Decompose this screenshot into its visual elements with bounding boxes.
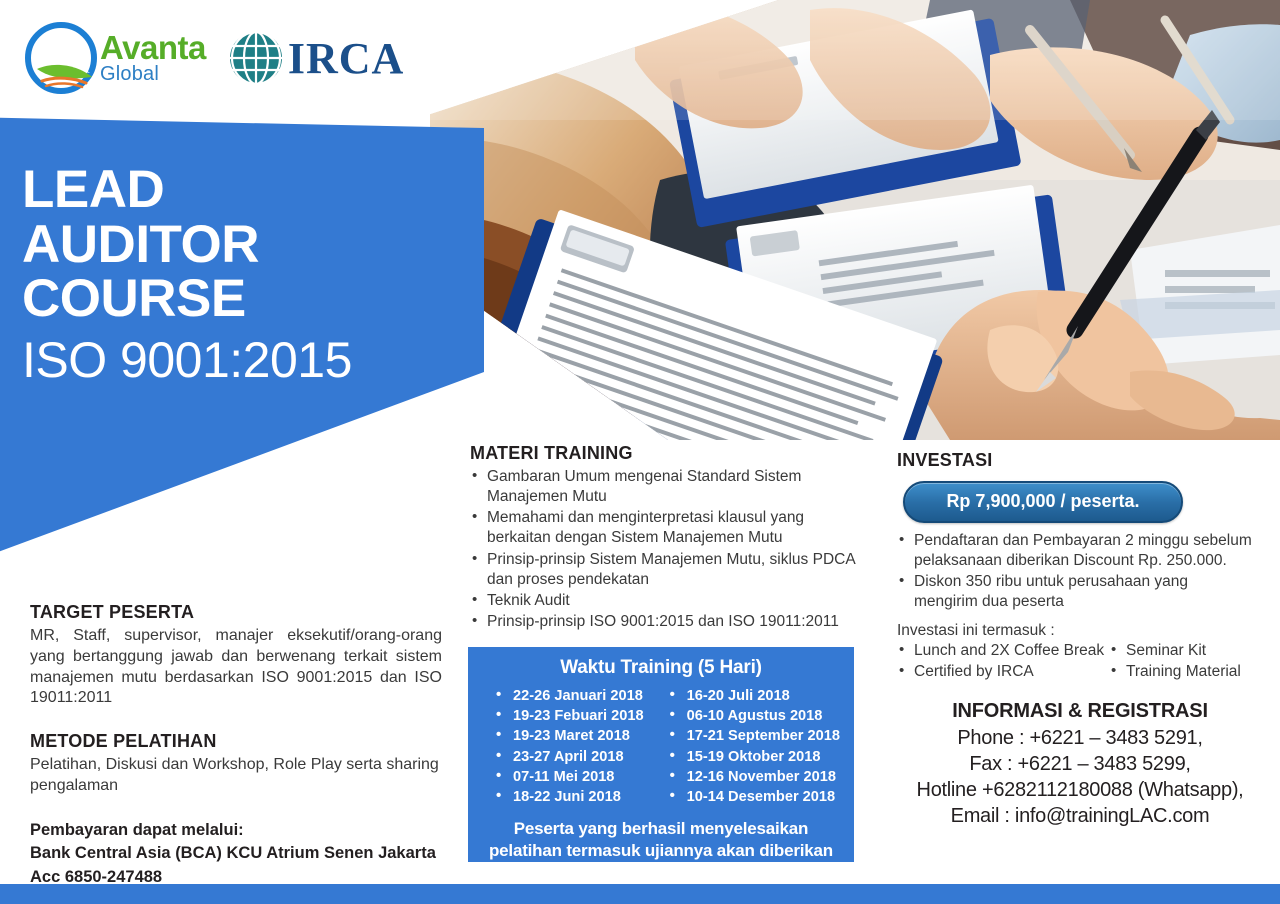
avanta-leaf-globe-icon (24, 21, 98, 95)
payment-info: Pembayaran dapat melalui: Bank Central A… (30, 819, 442, 889)
list-item: 06-10 Agustus 2018 (670, 706, 840, 726)
payment-line-2: Bank Central Asia (BCA) KCU Atrium Senen… (30, 842, 442, 865)
hero-photo-meeting (430, 0, 1280, 440)
materi-training-heading: MATERI TRAINING (470, 443, 860, 464)
list-item: Memahami dan menginterpretasi klausul ya… (470, 508, 860, 548)
schedule-dates-left: 22-26 Januari 2018 19-23 Febuari 2018 19… (496, 686, 658, 807)
list-item: Teknik Audit (470, 591, 860, 611)
list-item: 07-11 Mei 2018 (496, 767, 658, 787)
contact-phone[interactable]: Phone : +6221 – 3483 5291, (880, 725, 1280, 751)
list-item: Certified by IRCA (897, 662, 1109, 682)
includes-columns: Lunch and 2X Coffee Break Certified by I… (897, 641, 1252, 683)
list-item: 19-23 Febuari 2018 (496, 706, 658, 726)
page-title: LEAD AUDITOR COURSE ISO 9001:2015 (22, 163, 352, 391)
flyer-page: Avanta Global IRCA (0, 0, 1280, 904)
list-item: 16-20 Juli 2018 (670, 686, 840, 706)
title-line-3: COURSE (22, 272, 352, 327)
schedule-box: Waktu Training (5 Hari) 22-26 Januari 20… (468, 647, 854, 862)
list-item: Diskon 350 ribu untuk perusahaan yang me… (897, 572, 1252, 612)
list-item: Pendaftaran dan Pembayaran 2 minggu sebe… (897, 531, 1252, 571)
metode-pelatihan-heading: METODE PELATIHAN (30, 731, 442, 752)
contact-hotline[interactable]: Hotline +6282112180088 (Whatsapp), (880, 777, 1280, 803)
logo-row: Avanta Global IRCA (24, 18, 404, 98)
includes-lead: Investasi ini termasuk : (897, 622, 1252, 640)
avanta-wordmark: Avanta Global (100, 32, 206, 83)
schedule-title: Waktu Training (5 Hari) (482, 657, 840, 679)
payment-line-1: Pembayaran dapat melalui: (30, 819, 442, 842)
list-item: 12-16 November 2018 (670, 767, 840, 787)
certificate-note: Peserta yang berhasil menyelesaikan pela… (482, 818, 840, 884)
contact-email[interactable]: Email : info@trainingLAC.com (880, 803, 1280, 829)
contact-fax: Fax : +6221 – 3483 5299, (880, 751, 1280, 777)
list-item: 18-22 Juni 2018 (496, 787, 658, 807)
contact-heading: INFORMASI & REGISTRASI (880, 700, 1280, 723)
title-standard: ISO 9001:2015 (22, 329, 352, 392)
left-column: TARGET PESERTA MR, Staff, supervisor, ma… (30, 602, 442, 889)
materi-training-section: MATERI TRAINING Gambaran Umum mengenai S… (470, 443, 860, 633)
list-item: Seminar Kit (1109, 641, 1241, 661)
list-item: 10-14 Desember 2018 (670, 787, 840, 807)
schedule-dates-right: 16-20 Juli 2018 06-10 Agustus 2018 17-21… (670, 686, 840, 807)
list-item: Prinsip-prinsip ISO 9001:2015 dan ISO 19… (470, 612, 860, 632)
list-item: 22-26 Januari 2018 (496, 686, 658, 706)
globe-icon (228, 30, 284, 86)
includes-left: Lunch and 2X Coffee Break Certified by I… (897, 641, 1109, 683)
title-line-2: AUDITOR (22, 218, 352, 273)
irca-logo: IRCA (228, 30, 404, 86)
list-item: Training Material (1109, 662, 1241, 682)
investasi-section: INVESTASI Rp 7,900,000 / peserta. Pendaf… (897, 450, 1252, 683)
target-peserta-heading: TARGET PESERTA (30, 602, 442, 623)
avanta-name: Avanta (100, 32, 206, 63)
list-item: 15-19 Oktober 2018 (670, 747, 840, 767)
discount-list: Pendaftaran dan Pembayaran 2 minggu sebe… (897, 531, 1252, 613)
includes-right: Seminar Kit Training Material (1109, 641, 1241, 683)
bottom-bar (0, 884, 1280, 904)
list-item: 19-23 Maret 2018 (496, 726, 658, 746)
list-item: Prinsip-prinsip Sistem Manajemen Mutu, s… (470, 550, 860, 590)
irca-name: IRCA (288, 33, 404, 84)
avanta-subtitle: Global (100, 65, 206, 84)
list-item: 17-21 September 2018 (670, 726, 840, 746)
metode-pelatihan-body: Pelatihan, Diskusi dan Workshop, Role Pl… (30, 755, 442, 797)
materi-training-list: Gambaran Umum mengenai Standard Sistem M… (470, 467, 860, 632)
contact-section: INFORMASI & REGISTRASI Phone : +6221 – 3… (880, 700, 1280, 829)
list-item: Lunch and 2X Coffee Break (897, 641, 1109, 661)
list-item: Gambaran Umum mengenai Standard Sistem M… (470, 467, 860, 507)
list-item: 23-27 April 2018 (496, 747, 658, 767)
target-peserta-body: MR, Staff, supervisor, manajer eksekutif… (30, 626, 442, 709)
price-badge: Rp 7,900,000 / peserta. (903, 481, 1183, 523)
schedule-columns: 22-26 Januari 2018 19-23 Febuari 2018 19… (482, 686, 840, 807)
investasi-heading: INVESTASI (897, 450, 1252, 471)
avanta-global-logo: Avanta Global (24, 21, 206, 95)
title-line-1: LEAD (22, 163, 352, 218)
